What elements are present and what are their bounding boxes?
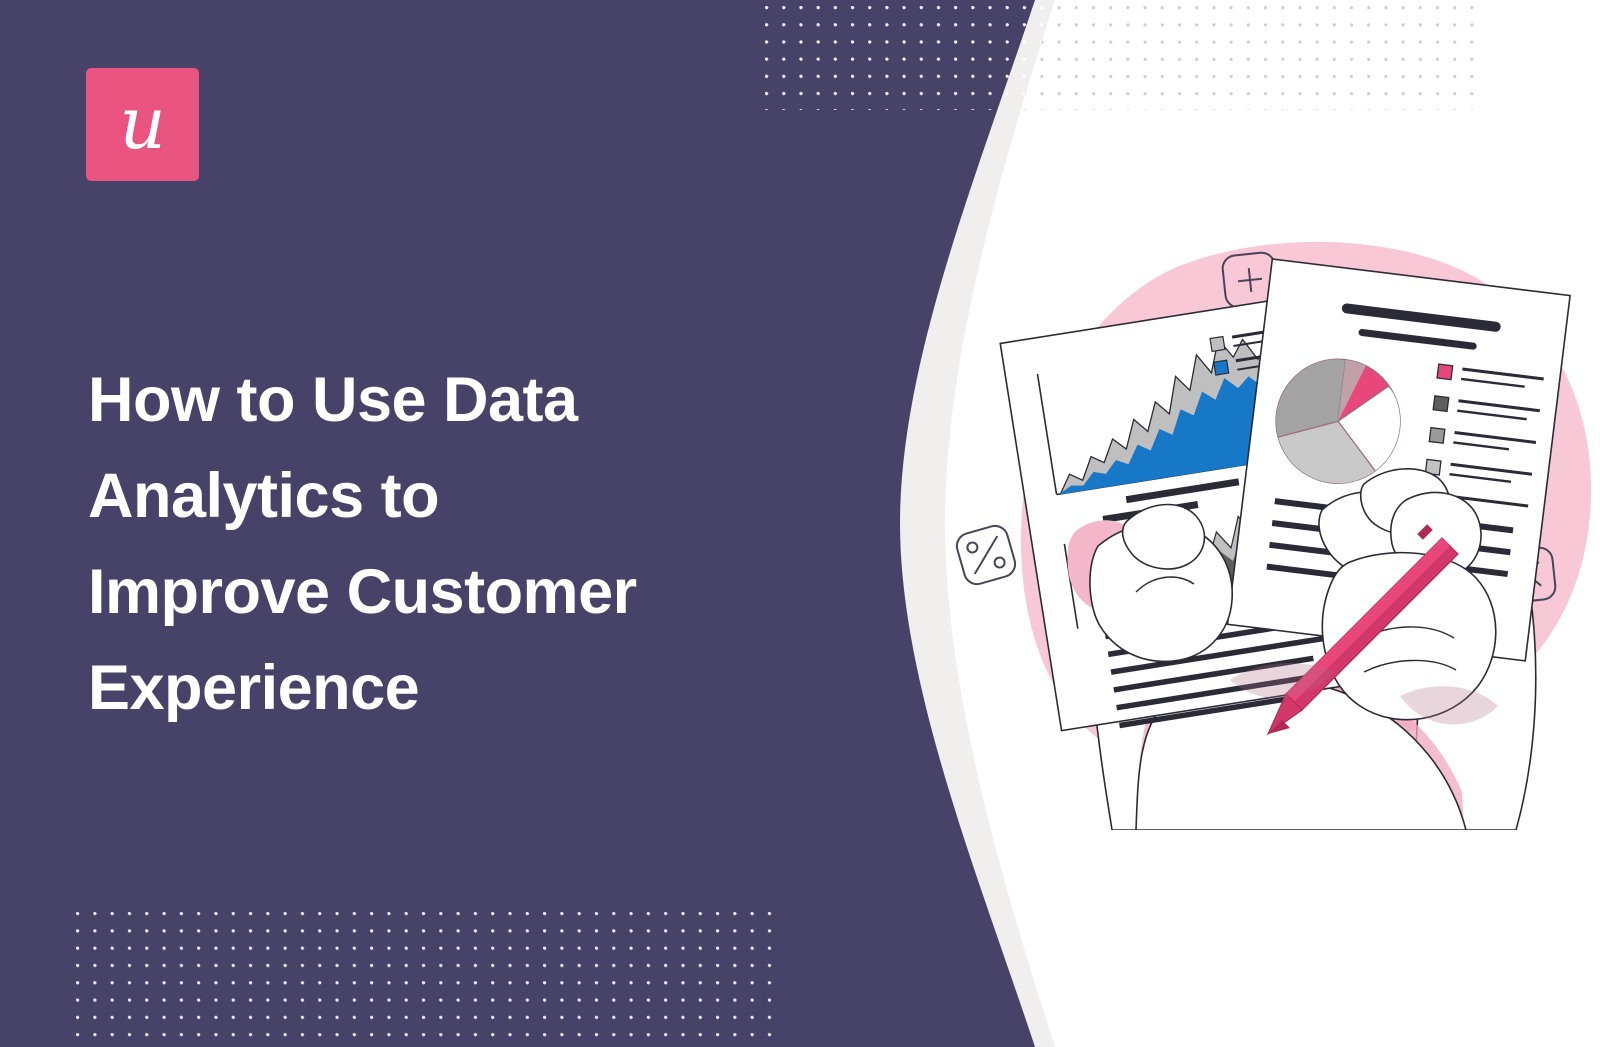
logo-glyph: u xyxy=(119,87,165,159)
illustration-data-analytics xyxy=(930,210,1600,830)
page-title: How to Use Data Analytics to Improve Cus… xyxy=(88,352,808,736)
percent-badge xyxy=(954,523,1018,587)
userpilot-logo[interactable]: u xyxy=(86,68,199,181)
hero-banner: u How to Use Data Analytics to Improve C… xyxy=(0,0,1600,1047)
